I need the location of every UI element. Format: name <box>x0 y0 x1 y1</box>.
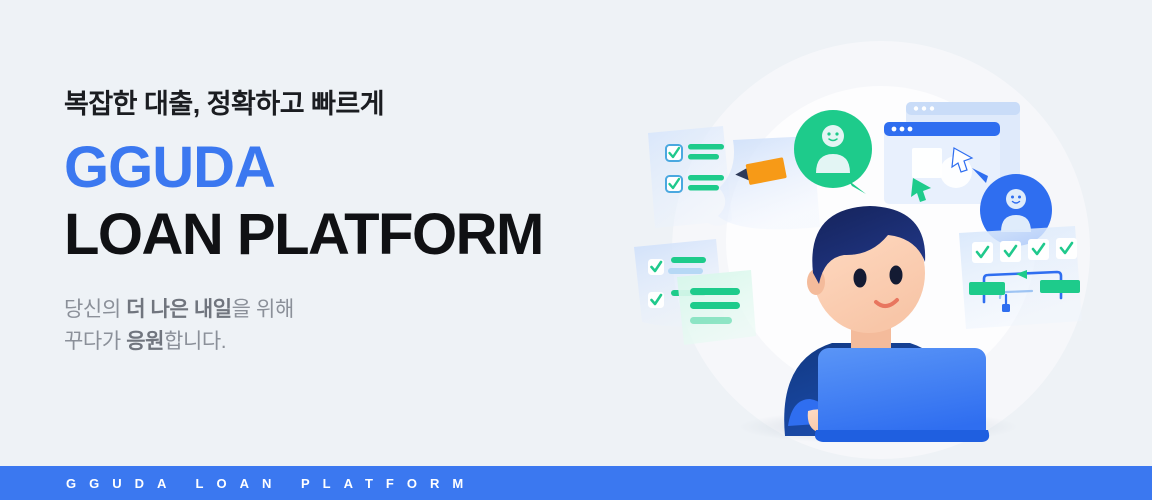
subcopy-line1-pre: 당신의 <box>64 298 126 321</box>
brand-name: GGUDA <box>64 138 624 199</box>
ticker-text: GGUDA LOAN PLATFORM <box>0 476 476 491</box>
subcopy-line-1: 당신의 더 나은 내일을 위해 <box>64 294 624 327</box>
green-note-card <box>677 270 756 345</box>
hero-banner: 복잡한 대출, 정확하고 빠르게 GGUDA LOAN PLATFORM 당신의… <box>0 0 1152 500</box>
hero-subcopy: 당신의 더 나은 내일을 위해 꾸다가 응원합니다. <box>64 294 624 359</box>
browser-window-front <box>884 122 1000 204</box>
laptop <box>815 348 989 442</box>
hero-tagline: 복잡한 대출, 정확하고 빠르게 <box>64 88 624 122</box>
subcopy-line-2: 꾸다가 응원합니다. <box>64 326 624 359</box>
subcopy-line2-bold: 응원 <box>126 330 164 353</box>
workflow-diagram-card <box>959 226 1082 329</box>
subcopy-line2-post: 합니다. <box>164 330 226 353</box>
subcopy-line1-bold: 더 나은 내일 <box>126 298 231 321</box>
checklist-card-top-left <box>648 126 732 228</box>
bottom-ticker-bar: GGUDA LOAN PLATFORM <box>0 466 1152 500</box>
hero-illustration <box>620 30 1152 460</box>
hero-copy: 복잡한 대출, 정확하고 빠르게 GGUDA LOAN PLATFORM 당신의… <box>64 88 624 359</box>
subcopy-line1-post: 을 위해 <box>232 298 294 321</box>
product-name: LOAN PLATFORM <box>64 205 624 266</box>
subcopy-line2-pre: 꾸다가 <box>64 330 126 353</box>
